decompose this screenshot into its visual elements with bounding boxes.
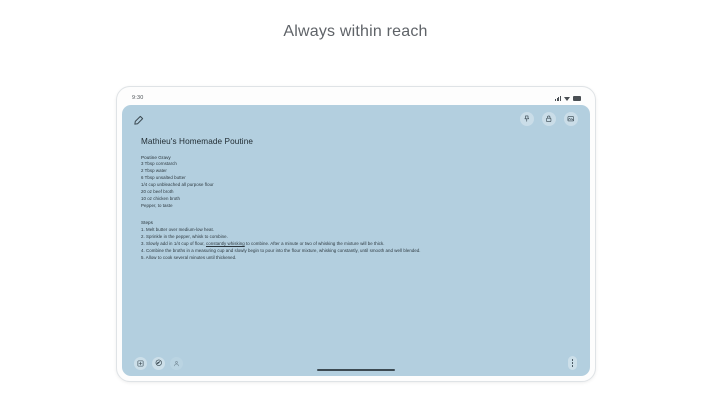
step-item: 2. Sprinkle in the pepper, whisk to comb…	[141, 235, 572, 239]
ingredient-item: Pepper, to taste	[141, 204, 572, 208]
section-heading-gravy: Poutine Gravy	[141, 155, 572, 160]
step-text: 4. Combine the broths in a measuring cup…	[141, 248, 421, 253]
section-heading-steps: Steps	[141, 220, 572, 225]
battery-icon	[573, 96, 581, 101]
draw-icon[interactable]	[152, 357, 165, 370]
note-top-bar	[122, 105, 590, 132]
step-text: 2. Sprinkle in the pepper, whisk to comb…	[141, 234, 228, 239]
archive-icon[interactable]	[564, 112, 578, 126]
step-item: 3. Slowly add in 1/4 cup of flour, const…	[141, 242, 572, 246]
note-top-actions	[520, 112, 578, 126]
more-options-icon[interactable]	[568, 356, 577, 370]
stylus-icon[interactable]	[133, 113, 144, 124]
ingredient-item: 2 Tbsp water	[141, 169, 572, 173]
more-options-dots	[572, 359, 574, 366]
status-bar-icons	[555, 96, 581, 101]
wifi-icon	[564, 97, 570, 101]
tablet-device: 9:30	[116, 86, 596, 382]
note-bottom-bar	[122, 350, 590, 376]
status-bar: 9:30	[122, 92, 590, 105]
reminder-icon[interactable]	[542, 112, 556, 126]
note-screen: Mathieu's Homemade Poutine Poutine Gravy…	[122, 105, 590, 376]
page-headline: Always within reach	[0, 23, 711, 41]
ingredient-item: 6 Tbsp unsalted butter	[141, 176, 572, 180]
step-text: 1. Melt butter over medium-low heat.	[141, 227, 214, 232]
step-item: 1. Melt butter over medium-low heat.	[141, 228, 572, 232]
add-box-icon[interactable]	[134, 357, 147, 370]
pin-icon[interactable]	[520, 112, 534, 126]
status-bar-time: 9:30	[132, 96, 144, 102]
collaborator-icon[interactable]	[170, 357, 183, 370]
step-text: 5. Allow to cook several minutes until t…	[141, 255, 236, 260]
signal-icon	[555, 96, 561, 101]
step-item: 4. Combine the broths in a measuring cup…	[141, 249, 572, 253]
ingredient-item: 1/4 cup unbleached all purpose flour	[141, 183, 572, 187]
step-text: to combine. After a minute or two of whi…	[245, 241, 385, 246]
ingredient-item: 20 oz beef broth	[141, 190, 572, 194]
step-item: 5. Allow to cook several minutes until t…	[141, 256, 572, 260]
home-indicator[interactable]	[317, 369, 395, 371]
step-text: 3. Slowly add in 1/4 cup of flour,	[141, 241, 206, 246]
step-underlined-text: constantly whisking	[206, 241, 245, 246]
ingredient-item: 3 Tbsp cornstarch	[141, 162, 572, 166]
note-bottom-actions	[134, 357, 183, 370]
note-title: Mathieu's Homemade Poutine	[141, 137, 572, 146]
note-body[interactable]: Mathieu's Homemade Poutine Poutine Gravy…	[122, 132, 590, 350]
section-spacer	[141, 211, 572, 220]
ingredient-item: 10 oz chicken broth	[141, 197, 572, 201]
